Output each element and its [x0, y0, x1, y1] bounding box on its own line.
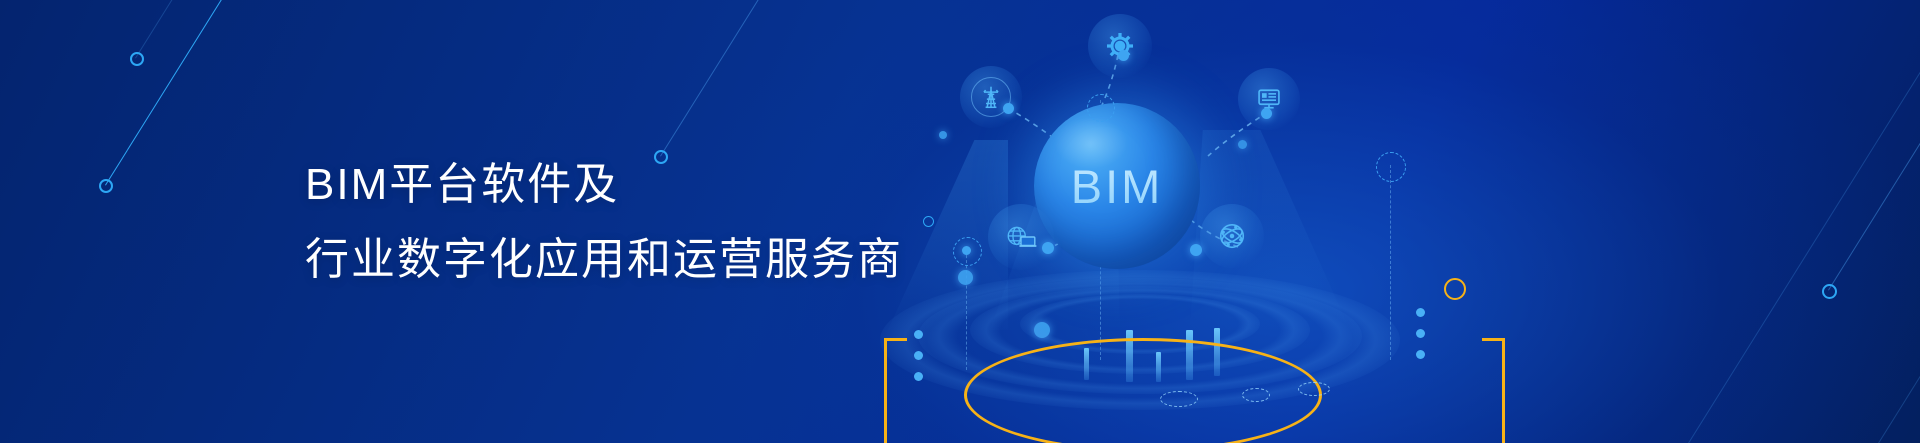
- power-tower-bubble[interactable]: [960, 66, 1022, 128]
- decor-dot-2: [130, 52, 144, 66]
- power-tower-connector-node: [1003, 103, 1014, 114]
- dot-column-right: [1416, 308, 1425, 371]
- globe-laptop-bubble[interactable]: [988, 204, 1054, 270]
- headline-line-1: BIM平台软件及: [305, 147, 903, 222]
- float-node-1: [939, 131, 947, 139]
- bim-hero-banner: BIM平台软件及 行业数字化应用和运营服务商 BIM: [0, 0, 1920, 443]
- network-node-icon: [1217, 221, 1247, 251]
- page-title: BIM平台软件及 行业数字化应用和运营服务商: [305, 147, 903, 297]
- bracket-left: [884, 338, 907, 443]
- dot: [914, 372, 923, 381]
- float-node-2: [958, 270, 973, 285]
- dot: [1416, 329, 1425, 338]
- globe-laptop-icon: [1004, 223, 1038, 251]
- dot: [1416, 308, 1425, 317]
- bim-illustration: BIM: [860, 0, 1920, 443]
- monitor-bubble[interactable]: [1238, 68, 1300, 130]
- dot: [1416, 350, 1425, 359]
- sphere-label: BIM: [1034, 103, 1200, 269]
- decor-line-4: [660, 0, 762, 157]
- headline-line-2: 行业数字化应用和运营服务商: [305, 222, 903, 297]
- network-connector-node: [1190, 244, 1202, 256]
- globe-laptop-connector-node: [1042, 242, 1054, 254]
- dot: [914, 330, 923, 339]
- dot-column-left: [914, 330, 923, 393]
- network-node-bubble[interactable]: [1200, 204, 1264, 268]
- track-oval-2: [1242, 388, 1270, 402]
- dashed-node-center-top: [1087, 94, 1115, 122]
- track-oval-3: [1298, 382, 1330, 396]
- monitor-extra-node: [1238, 140, 1247, 149]
- dot: [914, 351, 923, 360]
- track-oval-1: [1160, 391, 1198, 407]
- decor-line-1: [105, 0, 238, 186]
- monitor-connector-node: [1261, 108, 1272, 119]
- bracket-right: [1482, 338, 1505, 443]
- decor-line-2: [135, 0, 247, 59]
- orange-small-circle: [1444, 278, 1466, 300]
- decor-line-3: [218, 0, 309, 1]
- gear-bubble[interactable]: [1088, 14, 1152, 78]
- dashed-node-right: [1376, 152, 1406, 182]
- orange-orbit-ring: [964, 338, 1322, 443]
- bim-sphere: BIM: [1034, 103, 1200, 269]
- decor-dot-1: [99, 179, 113, 193]
- gear-connector-node: [1118, 50, 1129, 61]
- dashed-node-left-center: [962, 246, 971, 255]
